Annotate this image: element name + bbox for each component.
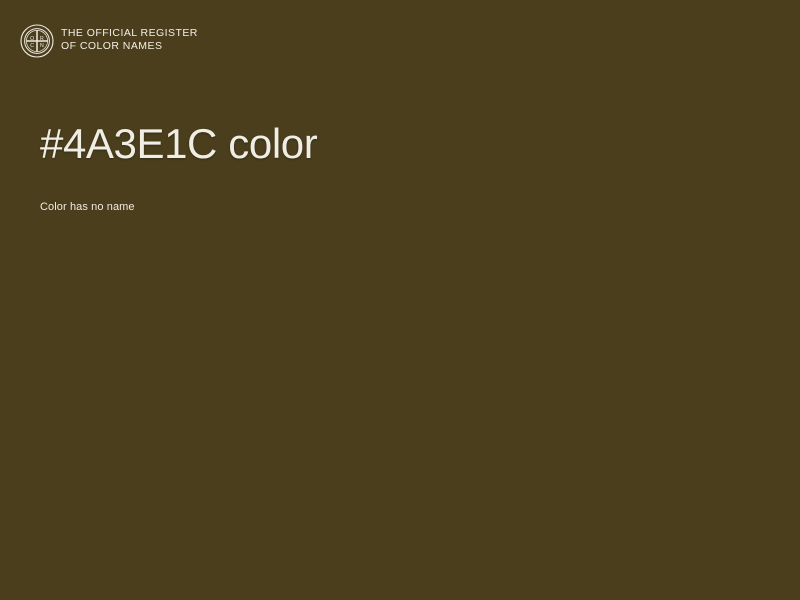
color-page: O R C N THE OFFICIAL REGISTER OF COLOR N… bbox=[0, 0, 800, 600]
svg-text:R: R bbox=[40, 36, 44, 42]
brand-wordmark: THE OFFICIAL REGISTER OF COLOR NAMES bbox=[61, 24, 198, 52]
register-seal-icon: O R C N bbox=[20, 24, 54, 58]
color-name-status: Color has no name bbox=[40, 170, 760, 215]
page-title: #4A3E1C color bbox=[40, 118, 760, 170]
svg-text:O: O bbox=[30, 36, 34, 42]
svg-text:C: C bbox=[30, 43, 34, 49]
brand-wordmark-line-2: OF COLOR NAMES bbox=[61, 40, 198, 53]
svg-text:N: N bbox=[40, 43, 44, 49]
color-info-block: #4A3E1C color Color has no name bbox=[40, 118, 760, 215]
brand-wordmark-line-1: THE OFFICIAL REGISTER bbox=[61, 27, 198, 40]
site-brand[interactable]: O R C N THE OFFICIAL REGISTER OF COLOR N… bbox=[20, 24, 198, 58]
